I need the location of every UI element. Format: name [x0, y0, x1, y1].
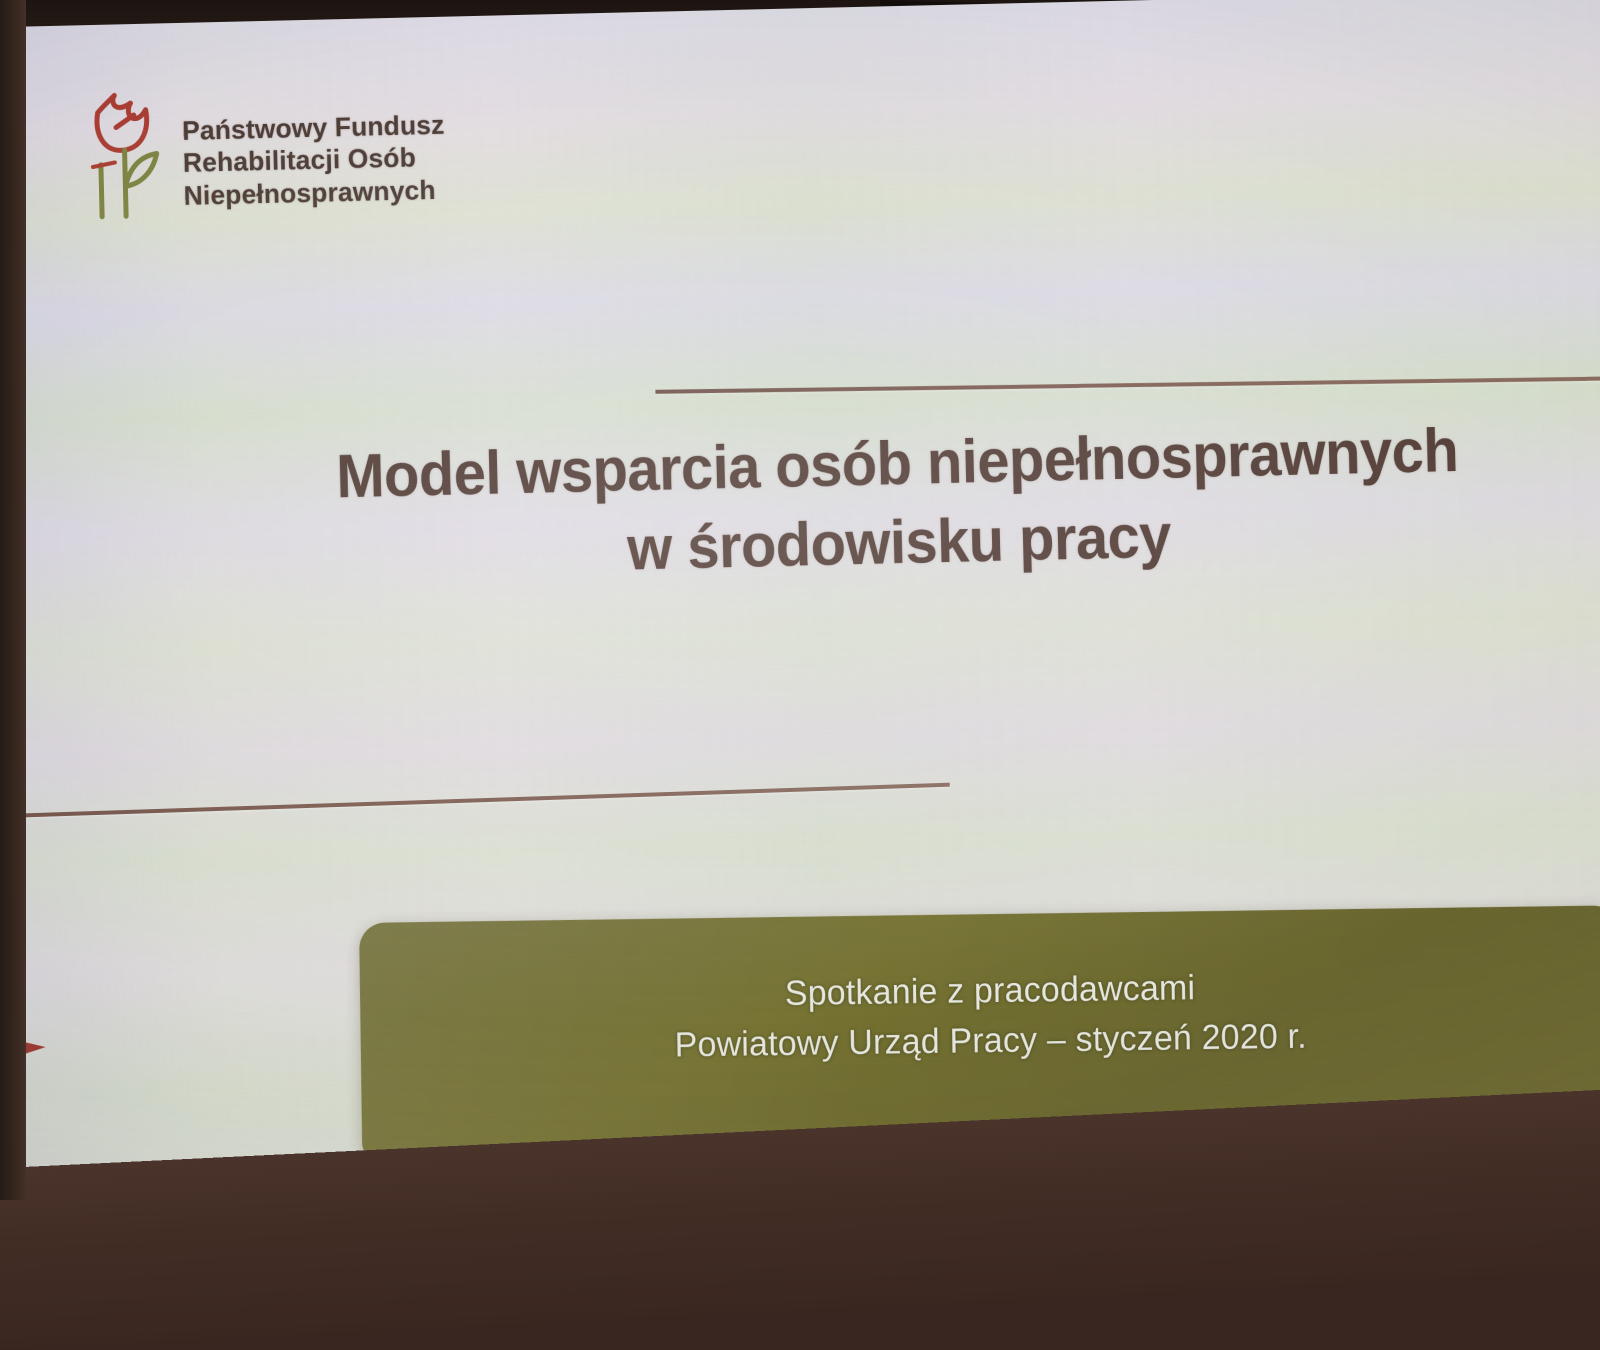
screen-vignette: [0, 0, 1600, 1187]
wall-band-left: [0, 0, 26, 1200]
slide-surface: Państwowy Fundusz Rehabilitacji Osób Nie…: [0, 0, 1600, 1187]
projection-screen: Państwowy Fundusz Rehabilitacji Osób Nie…: [0, 0, 1600, 1221]
